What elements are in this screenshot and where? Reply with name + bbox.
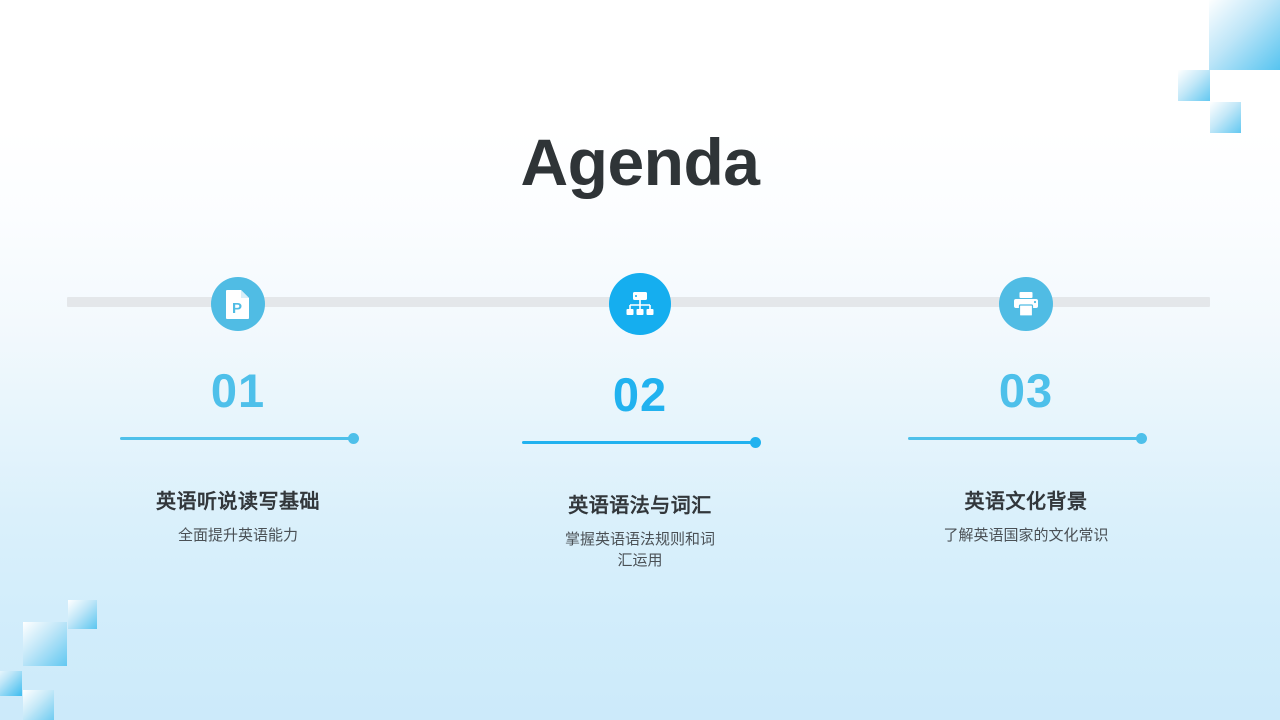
agenda-rule (460, 433, 820, 451)
agenda-rule-line (522, 441, 753, 444)
decorative-square-top-right-large (1209, 0, 1280, 70)
decorative-square-bottom-left-large (23, 622, 67, 666)
agenda-rule (58, 429, 418, 447)
agenda-number: 02 (460, 371, 820, 418)
agenda-rule (846, 429, 1206, 447)
agenda-item-subtitle: 掌握英语语法规则和词汇运用 (460, 529, 820, 572)
printer-icon (999, 277, 1053, 331)
agenda-rule-dot (1136, 433, 1147, 444)
page-title: Agenda (0, 124, 1280, 200)
agenda-rule-dot (750, 437, 761, 448)
agenda-item-title: 英语文化背景 (846, 485, 1206, 514)
hierarchy-chart-icon (609, 273, 671, 335)
agenda-rule-line (908, 437, 1139, 440)
agenda-item-03[interactable]: 03 英语文化背景 了解英语国家的文化常识 (846, 268, 1206, 546)
decorative-square-bottom-left-edge (0, 671, 22, 696)
agenda-rule-dot (348, 433, 359, 444)
svg-text:P: P (232, 300, 242, 317)
agenda-number: 01 (58, 367, 418, 414)
decorative-square-bottom-left-lower (23, 690, 54, 720)
agenda-item-title: 英语听说读写基础 (58, 485, 418, 514)
decorative-square-top-right-small-1 (1178, 70, 1210, 101)
agenda-item-subtitle: 全面提升英语能力 (58, 525, 418, 546)
agenda-item-02[interactable]: 02 英语语法与词汇 掌握英语语法规则和词汇运用 (460, 268, 820, 572)
presentation-file-icon: P (211, 277, 265, 331)
agenda-item-01[interactable]: P 01 英语听说读写基础 全面提升英语能力 (58, 268, 418, 546)
agenda-item-title: 英语语法与词汇 (460, 489, 820, 518)
agenda-number: 03 (846, 367, 1206, 414)
slide-canvas: Agenda P 01 英语听说读写基础 全面提升英语能力 (0, 0, 1280, 720)
agenda-rule-line (120, 437, 351, 440)
agenda-item-subtitle: 了解英语国家的文化常识 (846, 525, 1206, 546)
decorative-square-bottom-left-small (68, 600, 97, 629)
